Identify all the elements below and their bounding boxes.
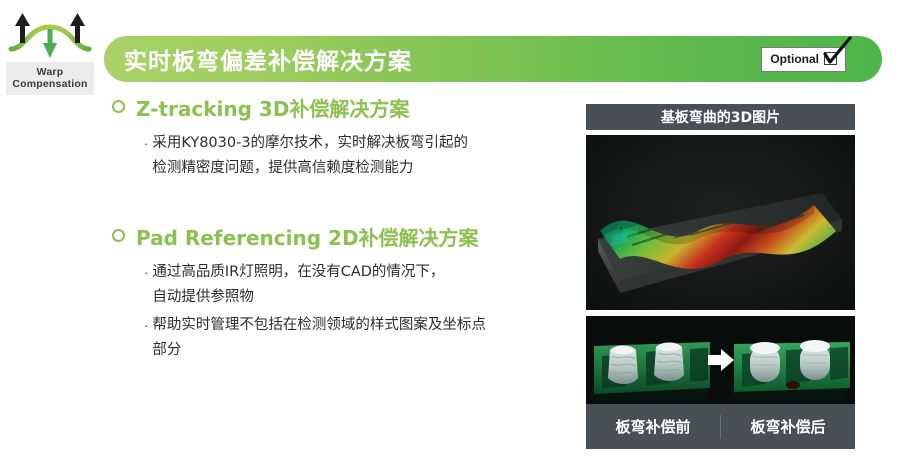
section-bullet-list: · 采用KY8030-3的摩尔技术，实时解决板弯引起的 检测精密度问题，提供高信… (144, 131, 572, 181)
optional-badge[interactable]: Optional (761, 47, 846, 72)
section-title: Pad Referencing 2D补偿解决方案 (136, 225, 479, 251)
bullet-text: 帮助实时管理不包括在检测领域的样式图案及坐标点 部分 (152, 313, 486, 363)
bullet-text: 通过高品质IR灯照明，在没有CAD的情况下， 自动提供参照物 (152, 260, 444, 310)
panel-header: 基板弯曲的3D图片 (586, 104, 855, 130)
bullet-line: 检测精密度问题，提供高信赖度检测能力 (152, 156, 468, 181)
list-item: · 采用KY8030-3的摩尔技术，实时解决板弯引起的 检测精密度问题，提供高信… (144, 131, 572, 181)
compare-label-before: 板弯补偿前 (586, 416, 720, 437)
compare-label-bar: 板弯补偿前 板弯补偿后 (586, 404, 855, 449)
bullet-dot-icon: · (144, 260, 148, 310)
warp-compensation-label: Warp Compensation (6, 62, 94, 95)
warp-label-line1: Warp (6, 66, 94, 78)
bullet-line: 通过高品质IR灯照明，在没有CAD的情况下， (152, 260, 444, 285)
page-title: 实时板弯偏差补偿解决方案 (124, 42, 412, 76)
bullet-line: 采用KY8030-3的摩尔技术，实时解决板弯引起的 (152, 131, 468, 156)
bullet-line: 帮助实时管理不包括在检测领域的样式图案及坐标点 (152, 313, 486, 338)
content-column: Z-tracking 3D补偿解决方案 · 采用KY8030-3的摩尔技术，实时… (112, 96, 572, 381)
section-title: Z-tracking 3D补偿解决方案 (136, 96, 409, 122)
optional-badge-label: Optional (770, 52, 819, 66)
ring-bullet-icon (112, 100, 125, 113)
section-bullet-list: · 通过高品质IR灯照明，在没有CAD的情况下， 自动提供参照物 · 帮助实时管… (144, 260, 572, 363)
warp-label-line2: Compensation (6, 78, 94, 90)
section-header: Pad Referencing 2D补偿解决方案 (112, 225, 572, 251)
bullet-dot-icon: · (144, 313, 148, 363)
list-item: · 帮助实时管理不包括在检测领域的样式图案及坐标点 部分 (144, 313, 572, 363)
bullet-line: 自动提供参照物 (152, 285, 444, 310)
bullet-line: 部分 (152, 338, 486, 363)
section-header: Z-tracking 3D补偿解决方案 (112, 96, 572, 122)
warp-compensation-badge: Warp Compensation (4, 8, 96, 95)
bullet-text: 采用KY8030-3的摩尔技术，实时解决板弯引起的 检测精密度问题，提供高信赖度… (152, 131, 468, 181)
pad-before-after-3d-image (586, 316, 855, 404)
ring-bullet-icon (112, 229, 125, 242)
warped-pcb-3d-heatmap-image (586, 135, 855, 310)
section-z-tracking: Z-tracking 3D补偿解决方案 · 采用KY8030-3的摩尔技术，实时… (112, 96, 572, 181)
warp-compensation-icon (7, 8, 93, 60)
right-arrow-icon (708, 349, 734, 371)
image-panel: 基板弯曲的3D图片 (586, 104, 855, 449)
header-title-bar: 实时板弯偏差补偿解决方案 Optional (104, 36, 882, 82)
compare-label-after: 板弯补偿后 (721, 416, 855, 437)
list-item: · 通过高品质IR灯照明，在没有CAD的情况下， 自动提供参照物 (144, 260, 572, 310)
bullet-dot-icon: · (144, 131, 148, 181)
panel-header-title: 基板弯曲的3D图片 (661, 107, 780, 127)
section-pad-referencing: Pad Referencing 2D补偿解决方案 · 通过高品质IR灯照明，在没… (112, 225, 572, 363)
checkbox-checked-icon[interactable] (824, 52, 838, 66)
